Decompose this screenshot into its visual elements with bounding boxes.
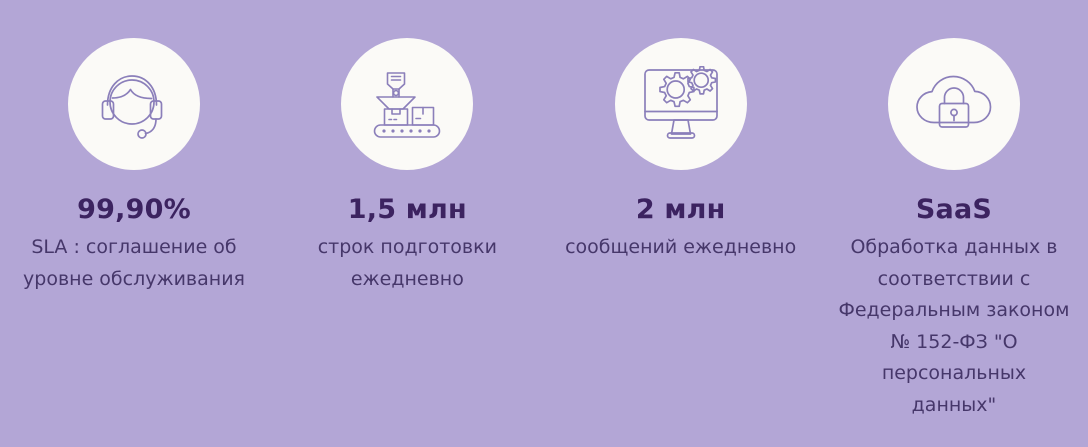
stat-value-sla: 99,90% bbox=[77, 194, 191, 225]
stat-value-saas: SaaS bbox=[916, 194, 992, 225]
stat-label-rows: строк подготовки ежедневно bbox=[287, 232, 527, 295]
stat-value-messages: 2 млн bbox=[636, 194, 726, 225]
stats-band: 99,90% SLA : соглашение об уровне обслуж… bbox=[0, 0, 1088, 447]
icon-circle-saas bbox=[888, 38, 1020, 170]
stat-card-saas: SaaS Обработка данных в соответствии с Ф… bbox=[820, 38, 1088, 421]
stat-card-messages: 2 млн сообщений ежедневно bbox=[547, 38, 815, 264]
headset-support-icon bbox=[95, 65, 173, 143]
monitor-gears-icon bbox=[641, 66, 721, 142]
icon-circle-messages bbox=[615, 38, 747, 170]
icon-circle-rows bbox=[341, 38, 473, 170]
conveyor-belt-packaging-icon bbox=[370, 67, 444, 141]
cloud-lock-icon bbox=[914, 73, 994, 135]
stat-card-sla: 99,90% SLA : соглашение об уровне обслуж… bbox=[0, 38, 268, 295]
icon-circle-sla bbox=[68, 38, 200, 170]
stat-card-rows: 1,5 млн строк подготовки ежедневно bbox=[273, 38, 541, 295]
stat-value-rows: 1,5 млн bbox=[348, 194, 467, 225]
stat-label-messages: сообщений ежедневно bbox=[565, 232, 796, 264]
stat-label-saas: Обработка данных в соответствии с Федера… bbox=[838, 232, 1070, 421]
stat-label-sla: SLA : соглашение об уровне обслуживания bbox=[20, 232, 248, 295]
